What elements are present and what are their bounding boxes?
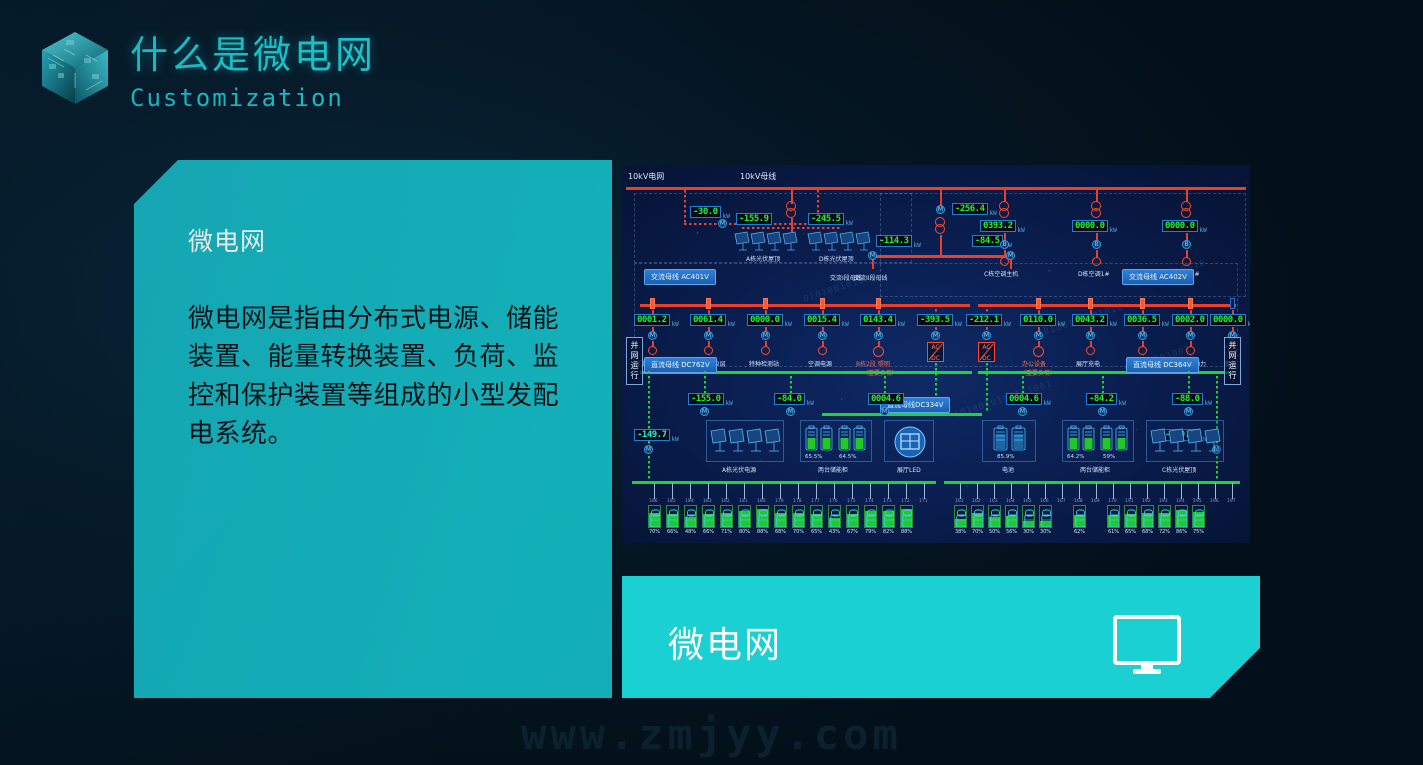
charger-pole — [1045, 483, 1046, 499]
side-tag-right: 并网运行 — [1224, 337, 1241, 385]
ac-feeder-right-label-1: 办公设备 — [1022, 359, 1046, 368]
device-label-battery-right: 两台储能柜 — [1080, 465, 1110, 474]
device-label-led: 展厅LED — [897, 465, 921, 474]
charger-pole — [762, 483, 763, 499]
battery-percent-mid: 85.9% — [997, 454, 1014, 460]
ev-charger-percent: 82% — [882, 529, 895, 535]
ev-charger-percent: 30% — [1039, 529, 1052, 535]
battery-percent-1: 64.5% — [839, 454, 856, 460]
meter-hv-2: -245.5 kW — [808, 213, 844, 225]
ev-charger-percent: 48% — [684, 529, 697, 535]
measure-node-icon: M — [700, 407, 709, 416]
banner-label: 微电网 — [668, 616, 782, 668]
left-content-panel: 微电网 微电网是指由分布式电源、储能装置、能量转换装置、负荷、监控和保护装置等组… — [134, 160, 612, 698]
ev-charger-percent: 67% — [846, 529, 859, 535]
ev-charger[interactable] — [882, 505, 895, 528]
ev-charger-percent: 79% — [864, 529, 877, 535]
charger-pole — [852, 483, 853, 499]
charger-pole-label: 163 — [989, 499, 998, 504]
measure-node-icon: M — [868, 251, 877, 260]
measure-node-icon: B — [1182, 240, 1191, 249]
device-label-battery-mid: 电池 — [1002, 465, 1014, 474]
ev-charger[interactable] — [1107, 505, 1120, 528]
pv-label-1: D栋光伏屋顶 — [819, 254, 854, 263]
transformer-icon — [999, 208, 1009, 218]
page-title: 什么是微电网 — [130, 34, 376, 78]
dc-branch-line — [884, 371, 886, 395]
dc-branch-line — [1188, 371, 1190, 395]
charger-pole-label: 178 — [793, 499, 802, 504]
meter-ac-left-1: 0061.4 kW — [690, 314, 726, 326]
charger-pole — [1198, 483, 1199, 499]
label-10kv-bus: 10kV母线 — [740, 171, 776, 182]
side-tag-left: 并网运行 — [626, 337, 643, 385]
charger-pole — [1028, 483, 1029, 499]
device-pv-a — [706, 420, 784, 462]
label-10kv-grid: 10kV电网 — [628, 171, 664, 182]
device-battery-right: 64.2% 59% — [1062, 420, 1134, 462]
dc-branch-line — [1102, 371, 1104, 395]
charger-pole-label: 179 — [775, 499, 784, 504]
charger-pole — [744, 483, 745, 499]
charger-pole — [924, 483, 925, 499]
panel-heading: 微电网 — [188, 222, 266, 258]
load-node-icon — [873, 346, 884, 357]
charger-pole-label: 176 — [829, 499, 838, 504]
ev-charger-percent: 88% — [900, 529, 913, 535]
ev-charger-percent: 56% — [1005, 529, 1018, 535]
meter-ac-left-3: 0015.4 kW — [804, 314, 840, 326]
load-node-icon — [818, 346, 827, 355]
cube-logo-icon — [36, 28, 114, 108]
dc-branch-line — [1022, 371, 1024, 395]
ev-charger[interactable] — [774, 505, 787, 528]
ev-charger-percent: 88% — [756, 529, 769, 535]
dc-branch-line — [790, 371, 792, 395]
measure-node-icon: M — [1098, 407, 1107, 416]
battery-percent-3: 59% — [1103, 454, 1115, 460]
charger-pole — [1181, 483, 1182, 499]
charger-pole-label: 171 — [919, 499, 928, 504]
ev-charger[interactable] — [1124, 505, 1137, 528]
load-node-icon — [1033, 346, 1044, 357]
charger-pole-label: 180 — [757, 499, 766, 504]
breaker-icon — [820, 298, 825, 309]
ev-charger-percent: 66% — [702, 529, 715, 535]
charger-pole-label: 185 — [667, 499, 676, 504]
breaker-icon — [1188, 298, 1193, 309]
charger-pole — [780, 483, 781, 499]
charger-pole — [960, 483, 961, 499]
ev-charger[interactable] — [954, 505, 967, 528]
load-node-icon — [1086, 346, 1095, 355]
load-node-icon — [648, 346, 657, 355]
bus-tag-ac-right: 交流母线 AC402V — [1122, 269, 1194, 285]
ev-charger[interactable] — [810, 505, 823, 528]
breaker-icon — [1230, 298, 1235, 309]
ev-charger-percent: 38% — [954, 529, 967, 535]
ev-charger-percent: 70% — [971, 529, 984, 535]
ev-charger[interactable] — [702, 505, 715, 528]
device-led-display — [884, 420, 934, 462]
charger-pole-label: 196 — [1210, 499, 1219, 504]
ac-dc-converter-icon: AC DC — [978, 342, 995, 362]
charger-pole — [977, 483, 978, 499]
ac-bus-section-2 — [978, 304, 1236, 307]
device-label-pv-a: A栋光伏电源 — [722, 465, 756, 474]
charger-pole-label: 170 — [1108, 499, 1117, 504]
device-battery-left: 65.5% 64.5% — [800, 420, 872, 462]
charger-bus-left — [632, 481, 936, 484]
transformer-icon — [1091, 208, 1101, 218]
charger-pole — [1096, 483, 1097, 499]
ac-dc-converter-icon: AC DC — [927, 342, 944, 362]
charger-pole — [1147, 483, 1148, 499]
breaker-icon — [763, 298, 768, 309]
meter-ac-left-4: 0143.4 kW — [860, 314, 896, 326]
meter-right-feeder-1: 0000.0 kW — [1072, 220, 1108, 232]
charger-pole-label: 166 — [1040, 499, 1049, 504]
load-node-icon — [761, 346, 770, 355]
breaker-icon — [650, 298, 655, 309]
device-label-battery-left: 两台储能柜 — [818, 465, 848, 474]
meter-ac-right-4: 0002.0 kW — [1172, 314, 1208, 326]
dc-sub-bus-mid — [822, 413, 982, 416]
ev-charger[interactable] — [828, 505, 841, 528]
ev-charger[interactable] — [971, 505, 984, 528]
meter-dc-right-0: 0004.6 kW — [1006, 393, 1042, 405]
ev-charger[interactable] — [988, 505, 1001, 528]
charger-pole-label: 186 — [649, 499, 658, 504]
ev-charger-percent: 86% — [1175, 529, 1188, 535]
transformer-icon — [786, 208, 796, 218]
charger-pole-label: 193 — [1159, 499, 1168, 504]
ev-charger[interactable] — [792, 505, 805, 528]
site-watermark: www.zmjyy.com — [0, 710, 1423, 759]
measure-node-icon: M — [1186, 331, 1195, 340]
measure-node-icon: M — [1086, 331, 1095, 340]
meter-ac-right-5: 0000.0 kW — [1210, 314, 1246, 326]
meter-dc-left-0: -155.0 kW — [688, 393, 724, 405]
charger-pole — [1130, 483, 1131, 499]
pv-label-0: A栋光伏屋顶 — [746, 254, 780, 263]
charger-pole — [906, 483, 907, 499]
charger-pole — [834, 483, 835, 499]
microgrid-scada-diagram: 1010010100101001 0100101001010 101001010… — [622, 165, 1250, 543]
meter-ac-right-3: 0036.5 kW — [1124, 314, 1160, 326]
charger-pole-label: 168 — [1074, 499, 1083, 504]
device-label-pv-c: C栋光伏屋顶 — [1162, 465, 1196, 474]
charger-pole-label: 169 — [1091, 499, 1100, 504]
breaker-icon — [876, 298, 881, 309]
ev-charger[interactable] — [1039, 505, 1052, 528]
device-battery-mid: 85.9% — [982, 420, 1036, 462]
measure-node-icon: M — [818, 331, 827, 340]
charger-pole-label: 194 — [1176, 499, 1185, 504]
charger-pole-label: 162 — [972, 499, 981, 504]
breaker-icon — [1036, 298, 1041, 309]
charger-pole-label: 177 — [811, 499, 820, 504]
charger-pole — [654, 483, 655, 499]
meter-hv-1: -155.9 — [736, 213, 772, 225]
ac-feeder-left-label-2: 特种检测站 — [749, 359, 779, 368]
charger-pole-label: 192 — [1142, 499, 1151, 504]
meter-ac-right-1: 0110.0 kW — [1020, 314, 1056, 326]
meter-ac-left-0: 0001.2 kW — [634, 314, 670, 326]
measure-node-icon: M — [1018, 407, 1027, 416]
ev-charger[interactable] — [1141, 505, 1154, 528]
ev-charger[interactable] — [1022, 505, 1035, 528]
monitor-icon — [1112, 614, 1182, 681]
ev-charger[interactable] — [1192, 505, 1205, 528]
measure-node-icon: M — [874, 331, 883, 340]
ev-charger-percent: 72% — [1158, 529, 1171, 535]
meter-right-feeder-2: 0000.0 kW — [1162, 220, 1198, 232]
ev-charger-percent: 70% — [648, 529, 661, 535]
meter-ac-right-0: -212.1 kW — [966, 314, 1002, 326]
ev-charger-percent: 65% — [1124, 529, 1137, 535]
charger-pole — [1011, 483, 1012, 499]
measure-node-icon: M — [648, 331, 657, 340]
measure-node-icon: B — [1092, 240, 1101, 249]
charger-pole-label: 191 — [1125, 499, 1134, 504]
ac-feeder-left-label-4: B栋2段 照明 — [856, 359, 890, 368]
breaker-icon — [1140, 298, 1145, 309]
load-node-icon — [704, 346, 713, 355]
breaker-icon — [1088, 298, 1093, 309]
measure-node-icon: B — [1000, 240, 1009, 249]
dc-branch-line — [704, 371, 706, 395]
ev-charger-percent: 68% — [774, 529, 787, 535]
meter-ac-right-2: 0043.2 kW — [1072, 314, 1108, 326]
charger-pole — [708, 483, 709, 499]
charger-pole-label: 175 — [847, 499, 856, 504]
charger-pole-label: 195 — [1193, 499, 1202, 504]
charger-pole-label: 173 — [883, 499, 892, 504]
ev-charger-percent: 71% — [720, 529, 733, 535]
meter-ac-left-5: -393.5 kW — [917, 314, 953, 326]
pv-tie-line — [791, 218, 793, 232]
ev-charger-percent: 70% — [792, 529, 805, 535]
charger-pole — [816, 483, 817, 499]
ev-charger[interactable] — [846, 505, 859, 528]
side-tag-right-text: 并网运行 — [1229, 341, 1237, 380]
breaker-icon — [706, 298, 711, 309]
meter-dc-right-1: -84.2 kW — [1086, 393, 1117, 405]
ev-charger-percent: 75% — [1192, 529, 1205, 535]
measure-node-icon: M — [761, 331, 770, 340]
charger-pole-label: 181 — [739, 499, 748, 504]
ac-feeder-left-label-3: 空调电源 — [808, 359, 832, 368]
charger-pole — [1164, 483, 1165, 499]
dc-branch-line — [648, 371, 650, 481]
measure-node-icon: M — [1184, 407, 1193, 416]
load-node-icon — [1186, 346, 1195, 355]
battery-percent-2: 64.2% — [1067, 454, 1084, 460]
charger-pole — [1062, 483, 1063, 499]
ev-charger[interactable] — [684, 505, 697, 528]
ac-feeder-right-label-2: 展厅充电 — [1076, 359, 1100, 368]
ev-charger-percent: 68% — [1141, 529, 1154, 535]
ev-charger-percent: 66% — [666, 529, 679, 535]
ev-charger[interactable] — [756, 505, 769, 528]
slide-header: 什么是微电网 Customization — [36, 28, 376, 112]
ev-charger-percent: 62% — [1073, 529, 1086, 535]
pv-tie-line — [742, 227, 842, 229]
device-pv-c — [1146, 420, 1224, 462]
panel-body-text: 微电网是指由分布式电源、储能装置、能量转换装置、负荷、监控和保护装置等组成的小型… — [188, 300, 568, 454]
charger-pole — [1079, 483, 1080, 499]
charger-pole-label: 182 — [721, 499, 730, 504]
ev-charger-percent: 30% — [1022, 529, 1035, 535]
meter-ac-left-2: 0000.0 kW — [747, 314, 783, 326]
ev-charger-percent: 80% — [738, 529, 751, 535]
charger-pole — [1215, 483, 1216, 499]
charger-pole-label: 184 — [685, 499, 694, 504]
measure-node-icon: M — [982, 331, 991, 340]
ev-charger[interactable] — [864, 505, 877, 528]
ev-charger[interactable] — [720, 505, 733, 528]
side-tag-left-text: 并网运行 — [631, 341, 639, 380]
charger-pole-label: 197 — [1227, 499, 1236, 504]
meter-right-feeder-0: 0393.2 kW — [980, 220, 1016, 232]
charger-bus-right — [944, 481, 1240, 484]
ev-charger-percent: 61% — [1107, 529, 1120, 535]
charger-pole — [1113, 483, 1114, 499]
bus-tag-ac-left: 交流母线 AC401V — [644, 269, 716, 285]
bottom-banner: 微电网 — [622, 576, 1260, 698]
page-subtitle: Customization — [130, 84, 376, 112]
charger-pole — [672, 483, 673, 499]
measure-node-icon: M — [786, 407, 795, 416]
ev-charger[interactable] — [1073, 505, 1086, 528]
transformer-icon — [1181, 208, 1191, 218]
charger-pole-label: 165 — [1023, 499, 1032, 504]
measure-node-icon: M — [1034, 331, 1043, 340]
ev-charger[interactable] — [900, 505, 913, 528]
measure-node-icon: M — [644, 445, 653, 454]
ev-charger[interactable] — [648, 505, 661, 528]
charger-pole-label: 167 — [1057, 499, 1066, 504]
measure-node-icon: M — [880, 407, 889, 416]
charger-pole — [798, 483, 799, 499]
charger-pole — [994, 483, 995, 499]
ev-charger-percent: 43% — [828, 529, 841, 535]
charger-pole — [726, 483, 727, 499]
measure-node-icon: M — [1138, 331, 1147, 340]
load-node-icon — [1138, 346, 1147, 355]
slide-background: 什么是微电网 Customization 微电网 微电网是指由分布式电源、储能装… — [0, 0, 1423, 765]
charger-pole — [690, 483, 691, 499]
charger-pole — [1232, 483, 1233, 499]
charger-pole-label: 172 — [901, 499, 910, 504]
meter-dc-left-1: -84.0 kW — [774, 393, 805, 405]
meter-dc-right-2: -88.0 kW — [1172, 393, 1203, 405]
ev-charger[interactable] — [738, 505, 751, 528]
charger-pole — [870, 483, 871, 499]
ac-bus-section-1 — [640, 304, 970, 307]
meter-dc-left-2: 0004.6 kW — [868, 393, 904, 405]
charger-pole-label: 164 — [1006, 499, 1015, 504]
ev-charger[interactable] — [666, 505, 679, 528]
measure-node-icon: M — [931, 331, 940, 340]
measure-node-icon: M — [704, 331, 713, 340]
charger-pole-label: 174 — [865, 499, 874, 504]
charger-pole-label: 161 — [955, 499, 964, 504]
charger-pole-label: 183 — [703, 499, 712, 504]
meter-dc-left-3: -149.7 kW — [634, 429, 670, 441]
battery-percent-0: 65.5% — [805, 454, 822, 460]
ev-charger[interactable] — [1158, 505, 1171, 528]
hv-bus-10kv — [626, 187, 1246, 190]
ev-charger-percent: 50% — [988, 529, 1001, 535]
ac-section-2-label: 交流II段母线 — [854, 273, 888, 282]
ev-charger[interactable] — [1175, 505, 1188, 528]
ev-charger-percent: 65% — [810, 529, 823, 535]
ev-charger[interactable] — [1005, 505, 1018, 528]
charger-pole — [888, 483, 889, 499]
